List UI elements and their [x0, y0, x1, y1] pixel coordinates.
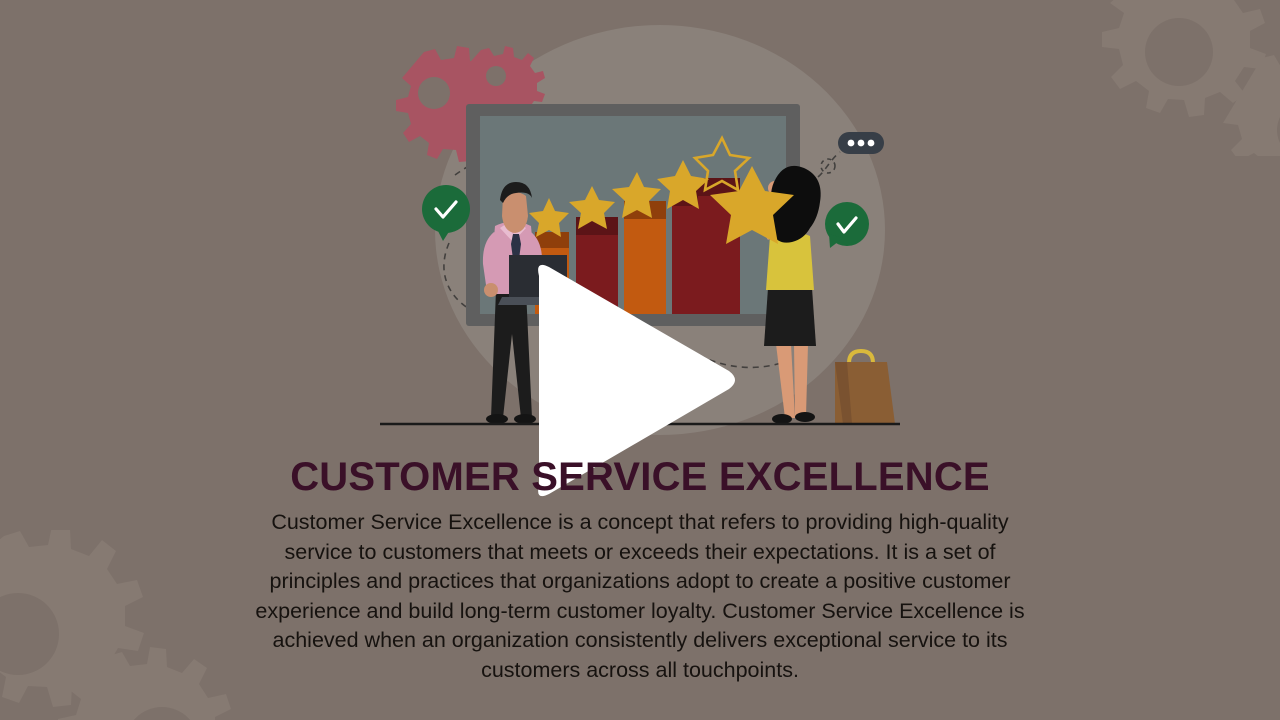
woman-skirt — [764, 288, 816, 346]
page-title: CUSTOMER SERVICE EXCELLENCE — [0, 455, 1280, 500]
man-hand-left — [484, 283, 498, 297]
shopping-bag-handle — [849, 351, 873, 363]
body-paragraph: Customer Service Excellence is a concept… — [240, 508, 1040, 685]
woman-leg-back — [794, 344, 808, 416]
dots-bubble — [838, 132, 884, 154]
man-shoe-left — [486, 414, 508, 424]
slide-canvas: CUSTOMER SERVICE EXCELLENCE Customer Ser… — [0, 0, 1280, 720]
woman-shoe-front — [772, 414, 792, 424]
woman-shoe-back — [795, 412, 815, 422]
shopping-bag — [835, 351, 895, 424]
gear-watermark-bottom-left — [0, 530, 236, 720]
